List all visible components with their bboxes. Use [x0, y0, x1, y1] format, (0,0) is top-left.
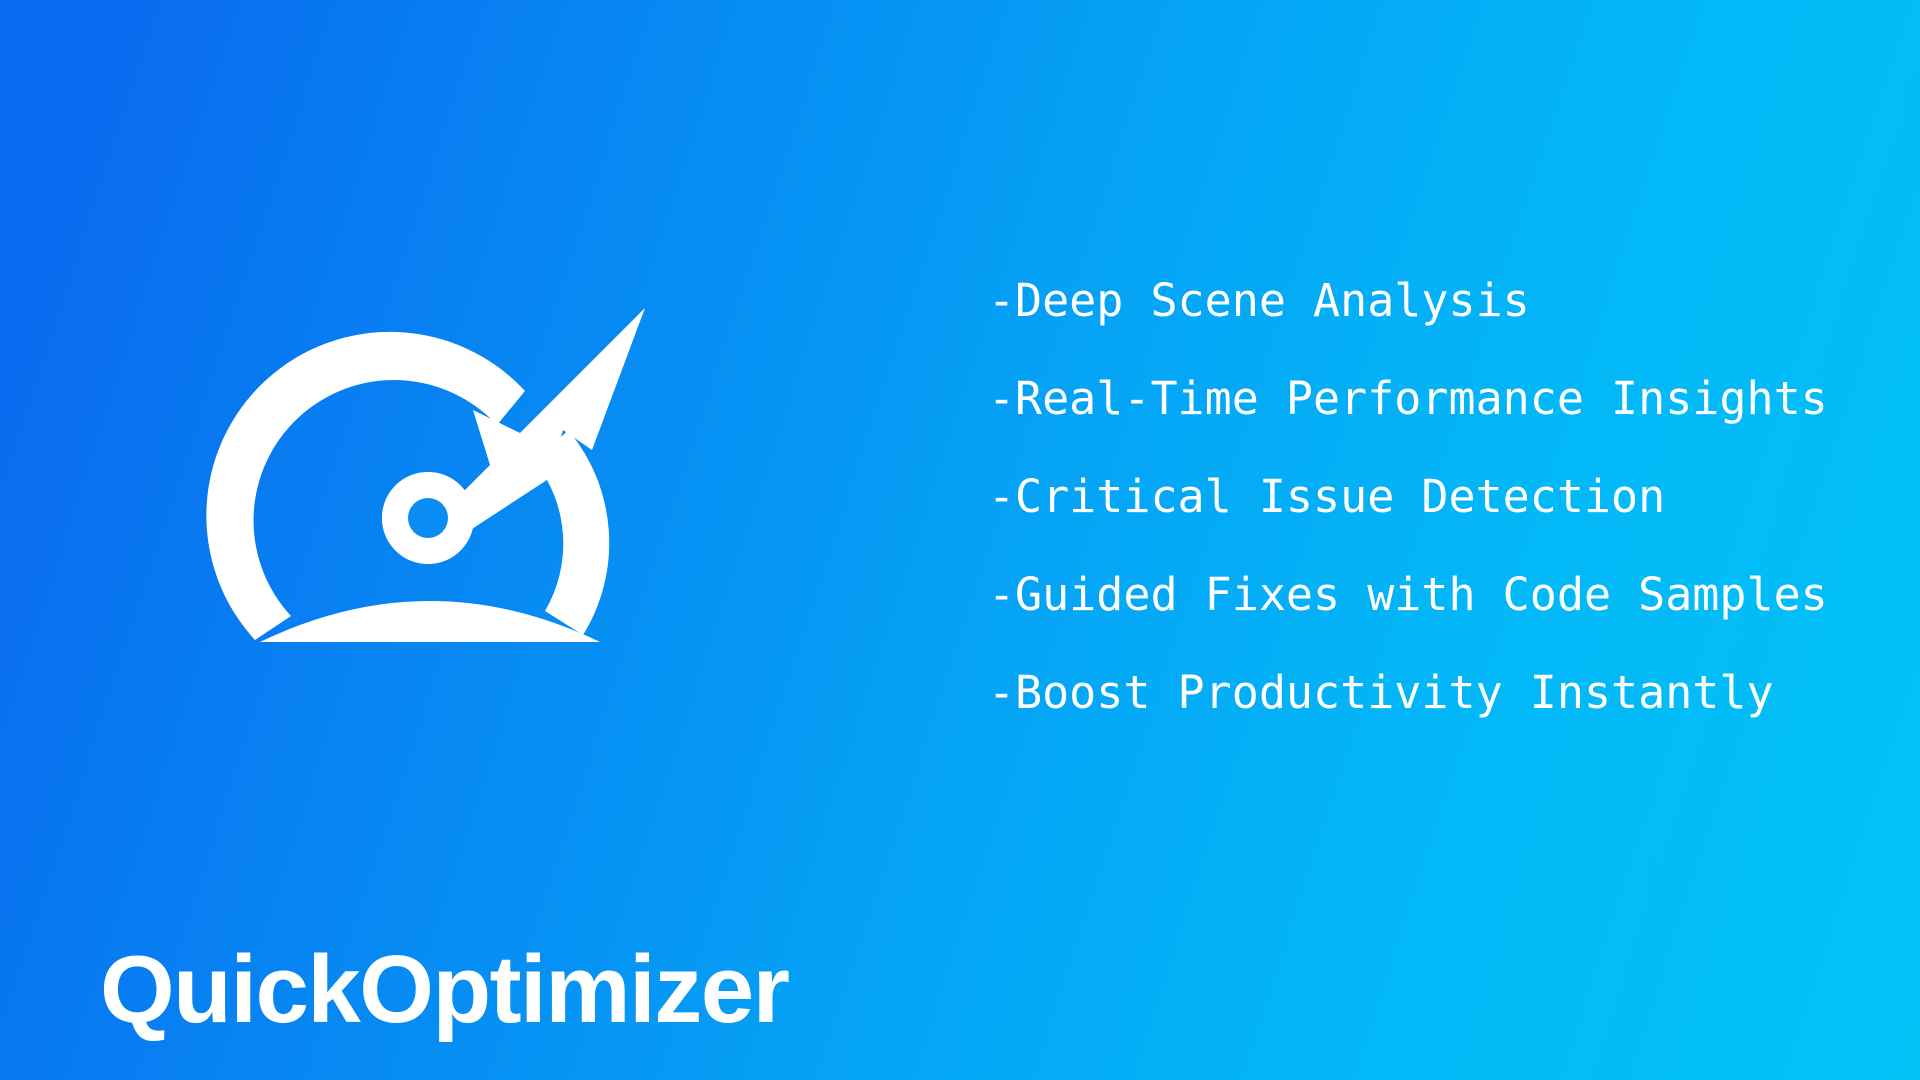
promo-slide: QuickOptimizer - Deep Scene Analysis - R…	[0, 0, 1920, 1080]
feature-label: Boost Productivity Instantly	[1015, 644, 1774, 742]
bullet-dash-icon: -	[988, 350, 1015, 448]
feature-label: Guided Fixes with Code Samples	[1015, 546, 1828, 644]
bullet-dash-icon: -	[988, 448, 1015, 546]
feature-list: - Deep Scene Analysis - Real-Time Perfor…	[988, 252, 1888, 742]
feature-label: Critical Issue Detection	[1015, 448, 1665, 546]
feature-item: - Critical Issue Detection	[988, 448, 1888, 546]
feature-label: Real-Time Performance Insights	[1015, 350, 1828, 448]
feature-item: - Boost Productivity Instantly	[988, 644, 1888, 742]
speedometer-gauge-arrow-icon	[190, 290, 670, 660]
gauge-hub-inner	[408, 498, 448, 538]
feature-item: - Real-Time Performance Insights	[988, 350, 1888, 448]
feature-item: - Guided Fixes with Code Samples	[988, 546, 1888, 644]
brand-wordmark: QuickOptimizer	[100, 942, 800, 1038]
brand-block: QuickOptimizer	[0, 280, 860, 780]
bullet-dash-icon: -	[988, 252, 1015, 350]
bullet-dash-icon: -	[988, 546, 1015, 644]
feature-item: - Deep Scene Analysis	[988, 252, 1888, 350]
bullet-dash-icon: -	[988, 644, 1015, 742]
feature-label: Deep Scene Analysis	[1015, 252, 1530, 350]
